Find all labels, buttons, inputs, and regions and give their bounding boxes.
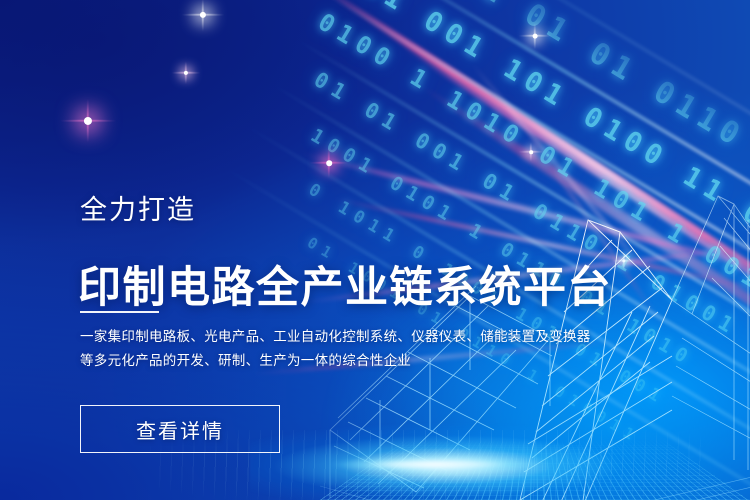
banner-content: 全力打造 印制电路全产业链系统平台 一家集印制电路板、光电产品、工业自动化控制系… bbox=[0, 0, 750, 500]
banner-description: 一家集印制电路板、光电产品、工业自动化控制系统、仪器仪表、储能装置及变换器 等多… bbox=[80, 325, 550, 373]
banner-eyebrow: 全力打造 bbox=[80, 197, 196, 224]
banner-headline: 印制电路全产业链系统平台 bbox=[78, 267, 612, 311]
description-line-2: 等多元化产品的开发、研制、生产为一体的综合性企业 bbox=[80, 349, 550, 373]
view-details-button[interactable]: 查看详情 bbox=[80, 405, 280, 453]
divider-rule bbox=[80, 311, 159, 313]
description-line-1: 一家集印制电路板、光电产品、工业自动化控制系统、仪器仪表、储能装置及变换器 bbox=[80, 325, 550, 349]
hero-banner: 01001101 01 01 0110 10011 01 001 101 010… bbox=[0, 0, 750, 500]
